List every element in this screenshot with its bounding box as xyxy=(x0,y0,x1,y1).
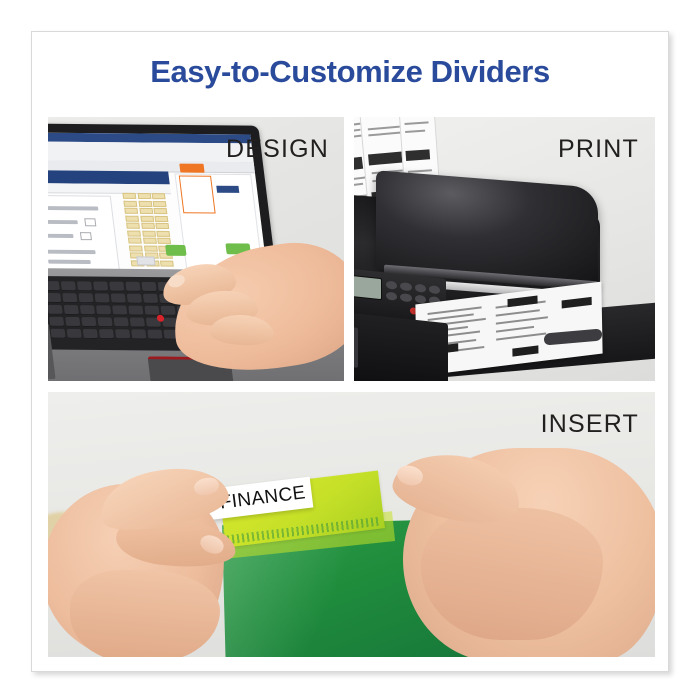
right-hand-holding-divider xyxy=(385,422,655,657)
printer-lcd-display xyxy=(354,274,382,300)
page-title: Easy-to-Customize Dividers xyxy=(32,54,668,90)
hand-on-keyboard xyxy=(152,229,344,379)
panel-insert-caption: INSERT xyxy=(541,410,639,439)
panel-design: DESIGN xyxy=(48,117,344,381)
screen-selection-box xyxy=(179,175,216,213)
screen-blue-chip xyxy=(216,186,239,193)
printer-front-panel xyxy=(354,311,448,381)
panel-print-caption: PRINT xyxy=(558,135,639,164)
screen-app-header xyxy=(48,170,170,184)
screen-accent-tab xyxy=(179,164,204,173)
screen-form-panel xyxy=(48,195,120,271)
printer-card-slot xyxy=(354,325,358,368)
product-feature-card: Easy-to-Customize Dividers xyxy=(31,31,669,672)
panel-insert: FINANCE INSERT xyxy=(48,392,655,657)
left-hand-holding-label xyxy=(48,444,272,657)
panel-design-caption: DESIGN xyxy=(226,135,329,164)
panel-print: PRINT xyxy=(354,117,655,381)
